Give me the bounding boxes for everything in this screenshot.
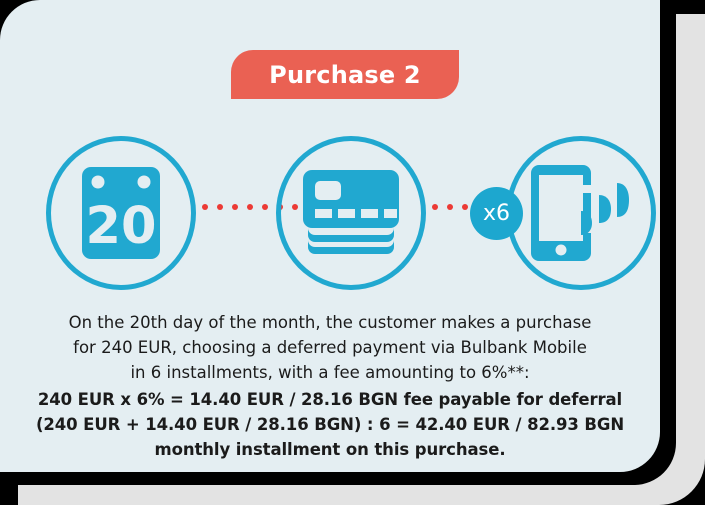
installments-multiplier-badge: x6 — [470, 187, 523, 240]
connector-dot — [247, 204, 253, 210]
svg-text:20: 20 — [86, 197, 157, 256]
step-3-ring — [506, 136, 656, 290]
purchase-info-card: Purchase 2 20 — [0, 0, 660, 472]
description-paragraph: On the 20th day of the month, the custom… — [30, 310, 630, 385]
step-icon-row: 20 — [0, 136, 660, 292]
description-line: On the 20th day of the month, the custom… — [30, 310, 630, 335]
calculation-paragraph: 240 EUR x 6% = 14.40 EUR / 28.16 BGN fee… — [30, 387, 630, 462]
calculation-line: (240 EUR + 14.40 EUR / 28.16 BGN) : 6 = … — [30, 412, 630, 437]
infographic-stage: Purchase 2 20 — [0, 0, 705, 505]
purchase-badge: Purchase 2 — [231, 50, 459, 99]
installments-multiplier-label: x6 — [483, 203, 510, 225]
connector-dot — [217, 204, 223, 210]
description-block: On the 20th day of the month, the custom… — [30, 310, 630, 462]
connector-dot — [202, 204, 208, 210]
calculation-line: monthly installment on this purchase. — [30, 437, 630, 462]
purchase-badge-label: Purchase 2 — [269, 63, 421, 87]
connector-dot — [262, 204, 268, 210]
calculation-line: 240 EUR x 6% = 14.40 EUR / 28.16 BGN fee… — [30, 387, 630, 412]
description-line: for 240 EUR, choosing a deferred payment… — [30, 335, 630, 360]
connector-dot — [432, 204, 438, 210]
connector-dot — [232, 204, 238, 210]
mobile-phone-icon — [511, 141, 651, 285]
step-2-ring — [276, 136, 426, 290]
credit-card-icon — [281, 141, 421, 285]
connector-dot — [447, 204, 453, 210]
calendar-icon: 20 — [51, 141, 191, 285]
step-1-ring: 20 — [46, 136, 196, 290]
connector-dot — [462, 204, 468, 210]
description-line: in 6 installments, with a fee amounting … — [30, 360, 630, 385]
